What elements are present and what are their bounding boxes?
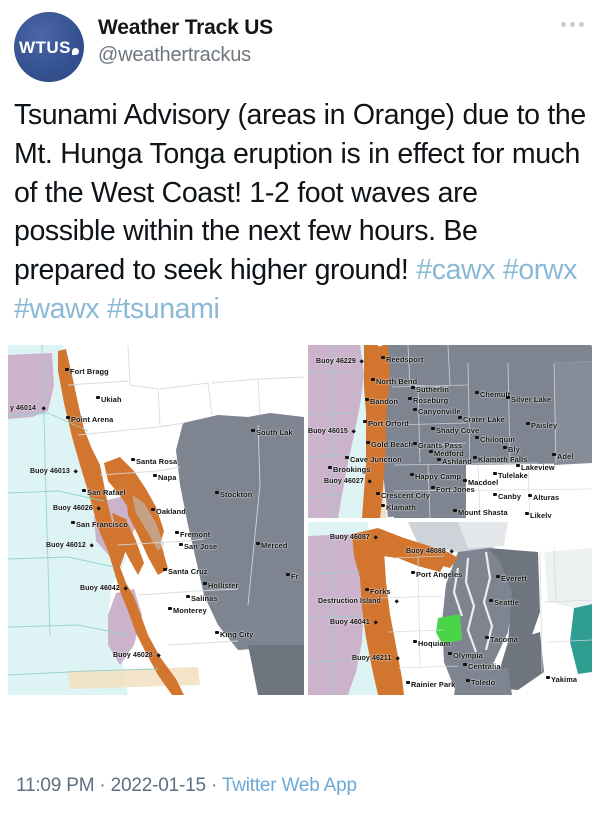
city-marker	[493, 472, 497, 476]
city-marker	[496, 575, 500, 579]
city-marker	[526, 422, 530, 426]
avatar-logo-text: WTUS	[19, 39, 71, 56]
city-marker	[411, 571, 415, 575]
more-dot-1	[561, 22, 566, 27]
city-marker	[466, 679, 470, 683]
city-marker	[153, 474, 157, 478]
california-map[interactable]: Fort BraggUkiahPoint ArenaSouth LakSanta…	[8, 345, 304, 695]
city-marker	[168, 607, 172, 611]
avatar-logo: WTUS	[19, 39, 79, 56]
city-marker	[413, 408, 417, 412]
city-marker	[506, 396, 510, 400]
account-names: Weather Track US @weathertrackus	[98, 12, 273, 67]
tweet-date: 2022-01-15	[111, 775, 206, 796]
city-marker	[503, 446, 507, 450]
hashtag-tsunami[interactable]: #tsunami	[107, 293, 219, 325]
city-marker	[186, 595, 190, 599]
hashtag-wawx[interactable]: #wawx	[14, 293, 99, 325]
city-marker	[82, 489, 86, 493]
tweet-line-1: Tsunami Advisory (areas in Orange) due	[14, 99, 509, 131]
city-marker	[448, 652, 452, 656]
washington-map-graphic	[308, 522, 592, 695]
more-horizontal-icon[interactable]	[561, 22, 584, 27]
tweet-source[interactable]: Twitter Web App	[222, 775, 357, 796]
california-map-graphic	[8, 345, 304, 695]
city-marker	[546, 676, 550, 680]
washington-map[interactable]: Port AngelesEverettForksSeattleTacomaHoq…	[308, 522, 592, 695]
city-marker	[381, 504, 385, 508]
display-name[interactable]: Weather Track US	[98, 16, 273, 40]
city-marker	[256, 542, 260, 546]
city-marker	[365, 588, 369, 592]
city-marker	[411, 386, 415, 390]
city-marker	[345, 456, 349, 460]
city-marker	[525, 512, 529, 516]
city-marker	[406, 681, 410, 685]
city-marker	[431, 427, 435, 431]
city-marker	[463, 663, 467, 667]
city-marker	[516, 464, 520, 468]
city-marker	[408, 397, 412, 401]
city-marker	[552, 453, 556, 457]
city-marker	[363, 420, 367, 424]
city-marker	[215, 491, 219, 495]
city-marker	[493, 493, 497, 497]
footer-separator-2: ·	[211, 775, 217, 796]
tweet-media[interactable]: Fort BraggUkiahPoint ArenaSouth LakSanta…	[8, 345, 592, 695]
city-marker	[381, 356, 385, 360]
city-marker	[475, 391, 479, 395]
hashtag-orwx[interactable]: #orwx	[503, 254, 577, 286]
city-marker	[251, 429, 255, 433]
city-marker	[131, 458, 135, 462]
right-map-column: ReedsportNorth BendBandonSutherlinRosebu…	[308, 345, 592, 695]
city-marker	[463, 479, 467, 483]
more-dot-2	[570, 22, 575, 27]
account-handle[interactable]: @weathertrackus	[98, 43, 273, 67]
tweet-card: WTUS Weather Track US @weathertrackus Ts…	[0, 0, 600, 815]
hashtag-cawx[interactable]: #cawx	[416, 254, 495, 286]
city-marker	[429, 450, 433, 454]
city-marker	[489, 599, 493, 603]
oregon-map[interactable]: ReedsportNorth BendBandonSutherlinRosebu…	[308, 345, 592, 518]
city-marker	[475, 436, 479, 440]
city-marker	[151, 508, 155, 512]
footer-separator-1: ·	[99, 775, 105, 796]
city-marker	[528, 494, 532, 498]
city-marker	[328, 466, 332, 470]
city-marker	[413, 442, 417, 446]
avatar-logo-dot-icon	[72, 48, 79, 55]
city-marker	[215, 631, 219, 635]
tweet-footer: 11:09 PM · 2022-01-15 · Twitter Web App	[0, 775, 600, 815]
tweet-line-6: ground!	[315, 254, 409, 286]
city-marker	[179, 543, 183, 547]
city-marker	[203, 582, 207, 586]
city-marker	[431, 486, 435, 490]
city-marker	[71, 521, 75, 525]
city-marker	[286, 573, 290, 577]
city-marker	[175, 531, 179, 535]
city-marker	[65, 368, 69, 372]
city-marker	[453, 509, 457, 513]
tweet-text: Tsunami Advisory (areas in Orange) due t…	[0, 82, 600, 329]
city-marker	[371, 378, 375, 382]
tweet-header: WTUS Weather Track US @weathertrackus	[0, 0, 600, 82]
city-marker	[410, 473, 414, 477]
city-marker	[66, 416, 70, 420]
city-marker	[96, 396, 100, 400]
city-marker	[473, 456, 477, 460]
city-marker	[458, 416, 462, 420]
city-marker	[485, 636, 489, 640]
city-marker	[413, 640, 417, 644]
city-marker	[365, 398, 369, 402]
city-marker	[163, 568, 167, 572]
avatar[interactable]: WTUS	[14, 12, 84, 82]
city-marker	[366, 441, 370, 445]
tweet-time: 11:09 PM	[16, 775, 94, 796]
city-marker	[376, 492, 380, 496]
city-marker	[437, 458, 441, 462]
more-dot-3	[579, 22, 584, 27]
